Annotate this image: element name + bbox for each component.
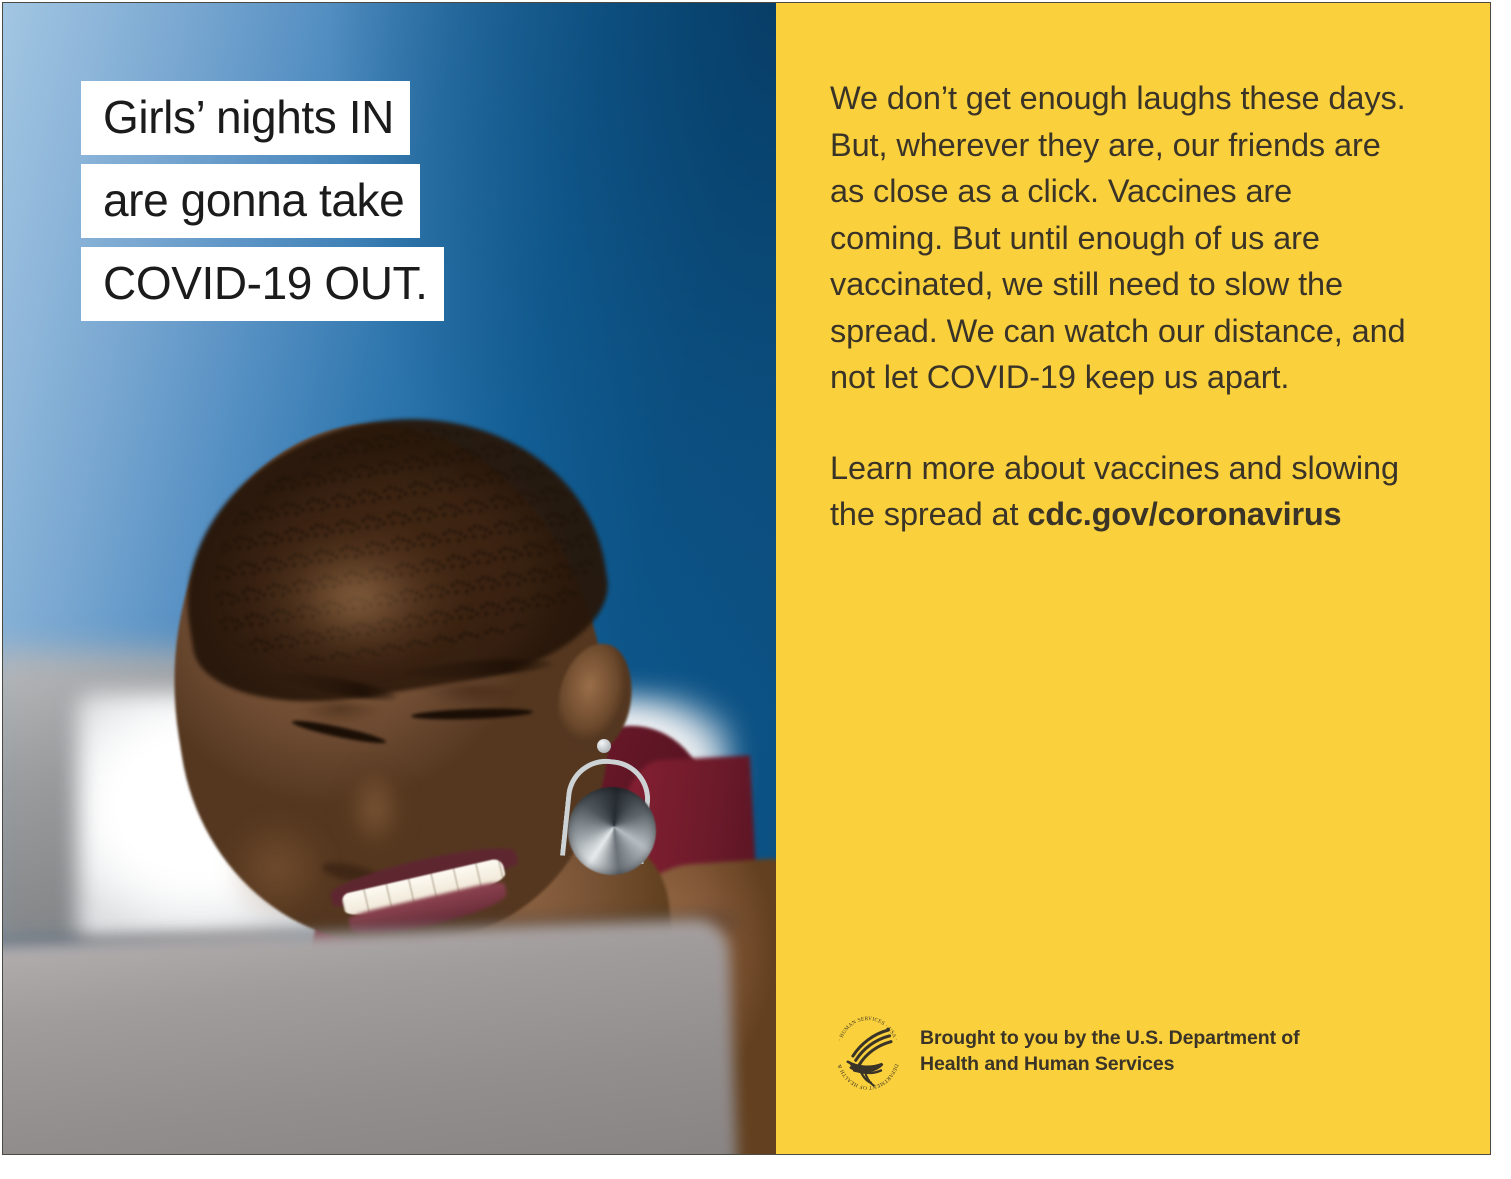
body-paragraph-2: Learn more about vaccines and slowing th… <box>830 445 1410 538</box>
headline-line-2: are gonna take <box>81 164 420 238</box>
photo-panel: Girls’ nights IN are gonna take COVID-19… <box>3 3 776 1154</box>
laptop-lid <box>3 919 738 1154</box>
earring-stud <box>597 739 611 753</box>
poster: Girls’ nights IN are gonna take COVID-19… <box>2 2 1491 1155</box>
message-panel: We don’t get enough laughs these days. B… <box>776 3 1490 1154</box>
cdc-url-link[interactable]: cdc.gov/coronavirus <box>1027 496 1341 532</box>
hhs-seal-icon: · HUMAN SERVICES · USA · DEPARTMENT OF H… <box>832 1011 904 1091</box>
hhs-attribution-text: Brought to you by the U.S. Department of… <box>920 1025 1300 1077</box>
body-paragraph-1: We don’t get enough laughs these days. B… <box>830 75 1410 401</box>
headline-line-3: COVID-19 OUT. <box>81 247 444 321</box>
eyelid-right <box>405 685 541 711</box>
headline-line-1: Girls’ nights IN <box>81 81 410 155</box>
forehead-highlight <box>253 523 463 673</box>
headline: Girls’ nights IN are gonna take COVID-19… <box>81 81 444 321</box>
hhs-attribution: · HUMAN SERVICES · USA · DEPARTMENT OF H… <box>832 1011 1300 1091</box>
